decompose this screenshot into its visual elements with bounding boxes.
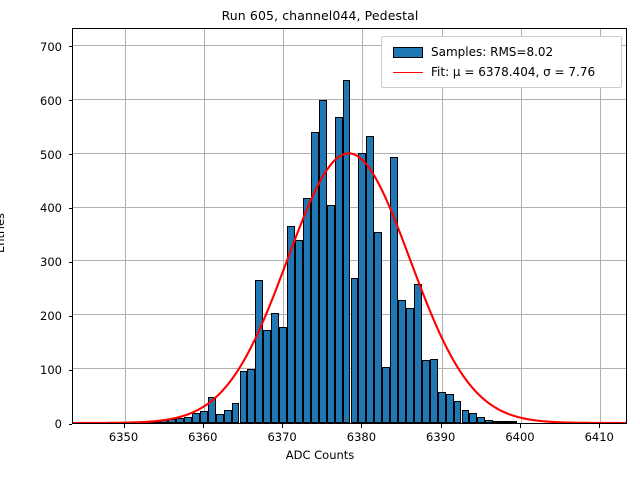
legend-swatch-line-icon: [393, 72, 423, 73]
histogram-bar: [366, 136, 374, 423]
histogram-bar: [192, 413, 200, 423]
histogram-bar: [438, 392, 446, 423]
histogram-bar: [462, 410, 470, 423]
page-title: Run 605, channel044, Pedestal: [0, 8, 640, 23]
histogram-bar: [240, 371, 248, 423]
histogram-bar: [485, 420, 493, 423]
x-axis-tick-label: 6350: [89, 430, 159, 444]
x-axis-tick-mark: [124, 424, 125, 428]
x-axis-tick-label: 6380: [326, 430, 396, 444]
x-axis-tick-mark: [520, 424, 521, 428]
histogram-bar: [208, 397, 216, 423]
histogram-bar: [176, 418, 184, 423]
histogram-bar: [477, 417, 485, 423]
y-axis-tick-label: 600: [0, 94, 62, 108]
legend-label-samples: Samples: RMS=8.02: [431, 45, 553, 59]
legend-swatch-bar-icon: [393, 47, 423, 58]
histogram-bar: [144, 421, 152, 423]
histogram-bar: [358, 153, 366, 423]
grid-line-vertical: [125, 29, 126, 423]
histogram-bar: [454, 401, 462, 423]
y-axis-tick-label: 300: [0, 255, 62, 269]
histogram-bar: [406, 308, 414, 423]
histogram-bar: [351, 278, 359, 423]
histogram-bar: [200, 411, 208, 423]
histogram-bar: [271, 313, 279, 423]
histogram-bar: [335, 117, 343, 423]
y-axis-tick-label: 0: [0, 417, 62, 431]
histogram-bar: [382, 367, 390, 423]
histogram-bar: [446, 394, 454, 423]
legend-item-samples: Samples: RMS=8.02: [388, 42, 615, 62]
x-axis-tick-mark: [203, 424, 204, 428]
histogram-bar: [422, 360, 430, 423]
x-axis-tick-mark: [361, 424, 362, 428]
x-axis-tick-mark: [282, 424, 283, 428]
histogram-bar: [327, 205, 335, 423]
x-axis-label: ADC Counts: [0, 448, 640, 462]
histogram-bar: [501, 421, 509, 423]
y-axis-label: Entries: [0, 213, 7, 253]
x-axis-tick-mark: [599, 424, 600, 428]
histogram-bar: [160, 420, 168, 423]
x-axis-tick-label: 6360: [168, 430, 238, 444]
histogram-bar: [255, 280, 263, 423]
histogram-bar: [469, 413, 477, 423]
grid-line-vertical: [600, 29, 601, 423]
grid-line-vertical: [442, 29, 443, 423]
x-axis-tick-mark: [441, 424, 442, 428]
y-axis-tick-label: 700: [0, 40, 62, 54]
matplotlib-figure: Run 605, channel044, Pedestal Entries AD…: [0, 0, 640, 480]
histogram-bar: [247, 369, 255, 423]
histogram-bar: [295, 240, 303, 423]
histogram-bar: [224, 410, 232, 423]
legend-label-fit: Fit: μ = 6378.404, σ = 7.76: [431, 65, 595, 79]
histogram-bar: [152, 421, 160, 423]
legend-item-fit: Fit: μ = 6378.404, σ = 7.76: [388, 62, 615, 82]
histogram-bar: [232, 403, 240, 423]
histogram-bar: [493, 421, 501, 423]
x-axis-tick-label: 6400: [485, 430, 555, 444]
x-axis-tick-label: 6410: [564, 430, 634, 444]
histogram-bar: [311, 132, 319, 423]
histogram-bar: [279, 327, 287, 423]
histogram-bar: [398, 300, 406, 423]
y-axis-tick-label: 200: [0, 309, 62, 323]
y-axis-tick-label: 400: [0, 201, 62, 215]
histogram-bar: [430, 359, 438, 423]
x-axis-tick-label: 6370: [247, 430, 317, 444]
histogram-bar: [343, 80, 351, 423]
histogram-bar: [168, 419, 176, 423]
histogram-bar: [216, 414, 224, 423]
histogram-bar: [390, 157, 398, 423]
histogram-bar: [414, 284, 422, 423]
histogram-bar: [287, 226, 295, 423]
grid-line-vertical: [521, 29, 522, 423]
histogram-bar: [263, 330, 271, 423]
histogram-bar: [303, 198, 311, 423]
y-axis-tick-label: 500: [0, 148, 62, 162]
histogram-bar: [374, 232, 382, 423]
histogram-bar: [509, 421, 517, 423]
y-axis-tick-label: 100: [0, 363, 62, 377]
histogram-bar: [184, 417, 192, 423]
x-axis-tick-label: 6390: [406, 430, 476, 444]
histogram-bar: [319, 100, 327, 423]
chart-legend: Samples: RMS=8.02 Fit: μ = 6378.404, σ =…: [381, 36, 622, 88]
grid-line-vertical: [204, 29, 205, 423]
